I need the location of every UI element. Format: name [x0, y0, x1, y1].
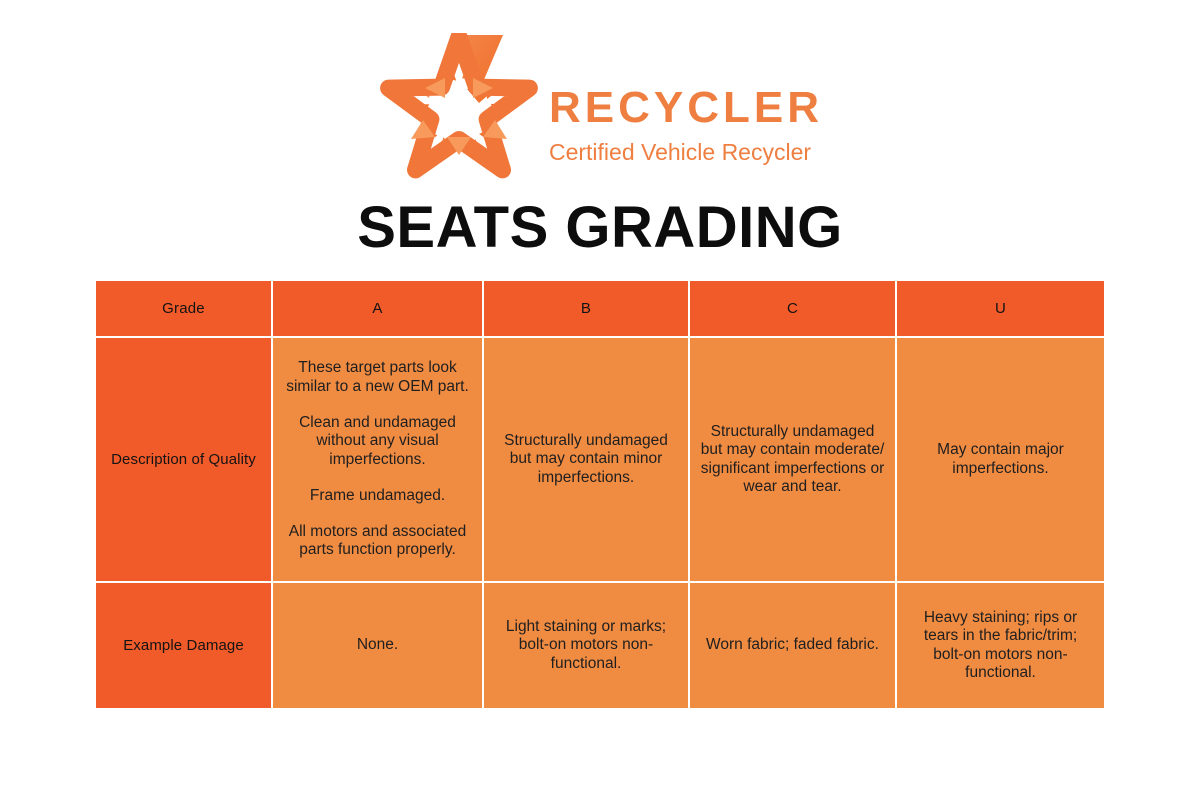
cell-paragraph: These target parts look similar to a new…: [283, 359, 472, 396]
table-row: Description of Quality These target part…: [96, 338, 1104, 583]
cell-paragraph: Clean and undamaged without any visual i…: [283, 414, 472, 469]
cell-paragraph: Worn fabric; faded fabric.: [700, 636, 885, 654]
recycling-star-logo-icon: [377, 33, 541, 183]
brand-logo: RECYCLER Certified Vehicle Recycler: [0, 30, 1200, 185]
header-grade-b: B: [484, 281, 690, 338]
cell-paragraph: Frame undamaged.: [283, 487, 472, 505]
cell-example-c: Worn fabric; faded fabric.: [690, 583, 897, 708]
header-grade-c: C: [690, 281, 897, 338]
row-label-description-of-quality: Description of Quality: [96, 338, 273, 583]
header-grade-u: U: [897, 281, 1104, 338]
cell-paragraph: Heavy staining; rips or tears in the fab…: [907, 609, 1094, 682]
page-title: SEATS GRADING: [0, 196, 1200, 260]
row-label-example-damage: Example Damage: [96, 583, 273, 708]
cell-paragraph: May contain major imperfections.: [907, 441, 1094, 478]
table-row: Example Damage None. Light staining or m…: [96, 583, 1104, 708]
seats-grading-table: Grade A B C U Description of Quality The…: [96, 281, 1104, 708]
header-grade-a: A: [273, 281, 484, 338]
cell-paragraph: Structurally undamaged but may contain m…: [700, 423, 885, 496]
cell-description-a: These target parts look similar to a new…: [273, 338, 484, 583]
cell-paragraph: All motors and associated parts function…: [283, 523, 472, 560]
logo-wordmark: RECYCLER: [549, 86, 823, 130]
cell-example-u: Heavy staining; rips or tears in the fab…: [897, 583, 1104, 708]
table-header-row: Grade A B C U: [96, 281, 1104, 338]
cell-paragraph: Structurally undamaged but may contain m…: [494, 432, 678, 487]
cell-example-a: None.: [273, 583, 484, 708]
cell-description-u: May contain major imperfections.: [897, 338, 1104, 583]
cell-description-b: Structurally undamaged but may contain m…: [484, 338, 690, 583]
header-grade: Grade: [96, 281, 273, 338]
cell-description-c: Structurally undamaged but may contain m…: [690, 338, 897, 583]
cell-example-b: Light staining or marks; bolt-on motors …: [484, 583, 690, 708]
logo-text-group: RECYCLER Certified Vehicle Recycler: [549, 52, 823, 164]
cell-paragraph: Light staining or marks; bolt-on motors …: [494, 618, 678, 673]
logo-tagline: Certified Vehicle Recycler: [549, 141, 811, 164]
cell-paragraph: None.: [283, 636, 472, 654]
